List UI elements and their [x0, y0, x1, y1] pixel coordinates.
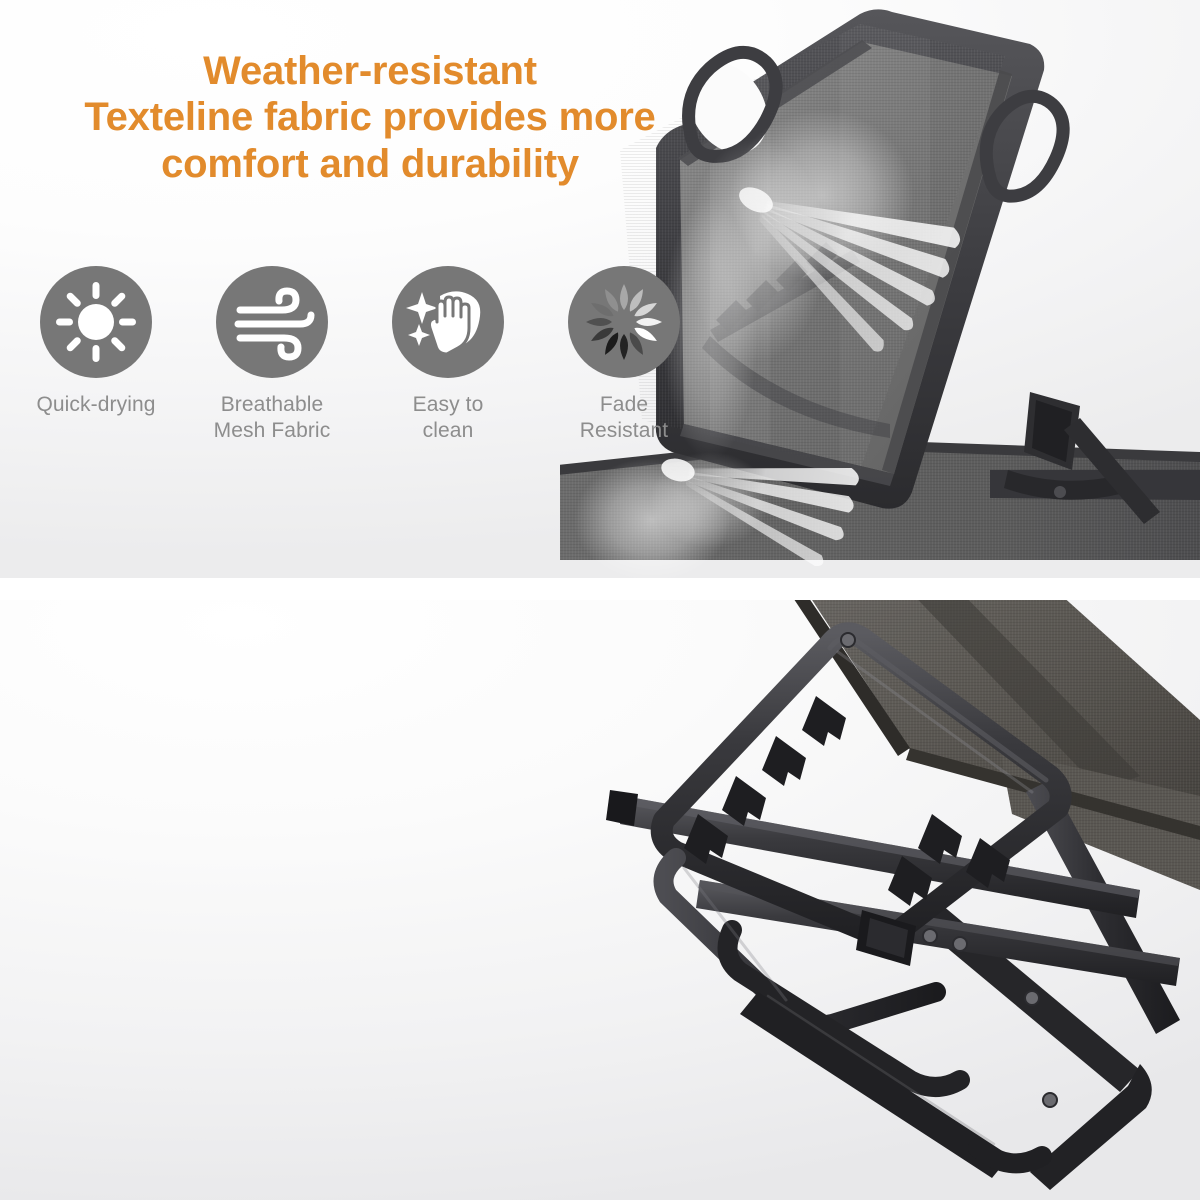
aluminium-folding-frame-photo	[580, 600, 1200, 1200]
sun-icon	[40, 266, 152, 378]
infographic-sheet: Weather-resistant Texteline fabric provi…	[0, 0, 1200, 1200]
feature-label: Breathable Mesh Fabric	[214, 392, 331, 444]
feature-quick-drying[interactable]: Quick-drying	[8, 266, 184, 444]
feature-fade-resistant[interactable]: Fade Resistant	[536, 266, 712, 444]
feature-easy-to-clean[interactable]: Easy to clean	[360, 266, 536, 444]
feature-row-fabric: Quick-drying Breathable Mesh Fabric	[0, 266, 740, 444]
panel-aluminum-frame: Durable Aluminum frame for easy carry an…	[0, 600, 1200, 1200]
wind-icon	[216, 266, 328, 378]
feature-label: Fade Resistant	[580, 392, 668, 444]
color-wheel-petals-icon	[568, 266, 680, 378]
page-title-weather-resistant: Weather-resistant Texteline fabric provi…	[40, 48, 700, 187]
panel-weather-resistant: Weather-resistant Texteline fabric provi…	[0, 0, 1200, 578]
feature-label: Quick-drying	[36, 392, 155, 418]
feature-label: Easy to clean	[413, 392, 484, 444]
feature-breathable-mesh-fabric[interactable]: Breathable Mesh Fabric	[184, 266, 360, 444]
hand-cloth-sparkle-icon	[392, 266, 504, 378]
panel-divider	[0, 578, 1200, 600]
